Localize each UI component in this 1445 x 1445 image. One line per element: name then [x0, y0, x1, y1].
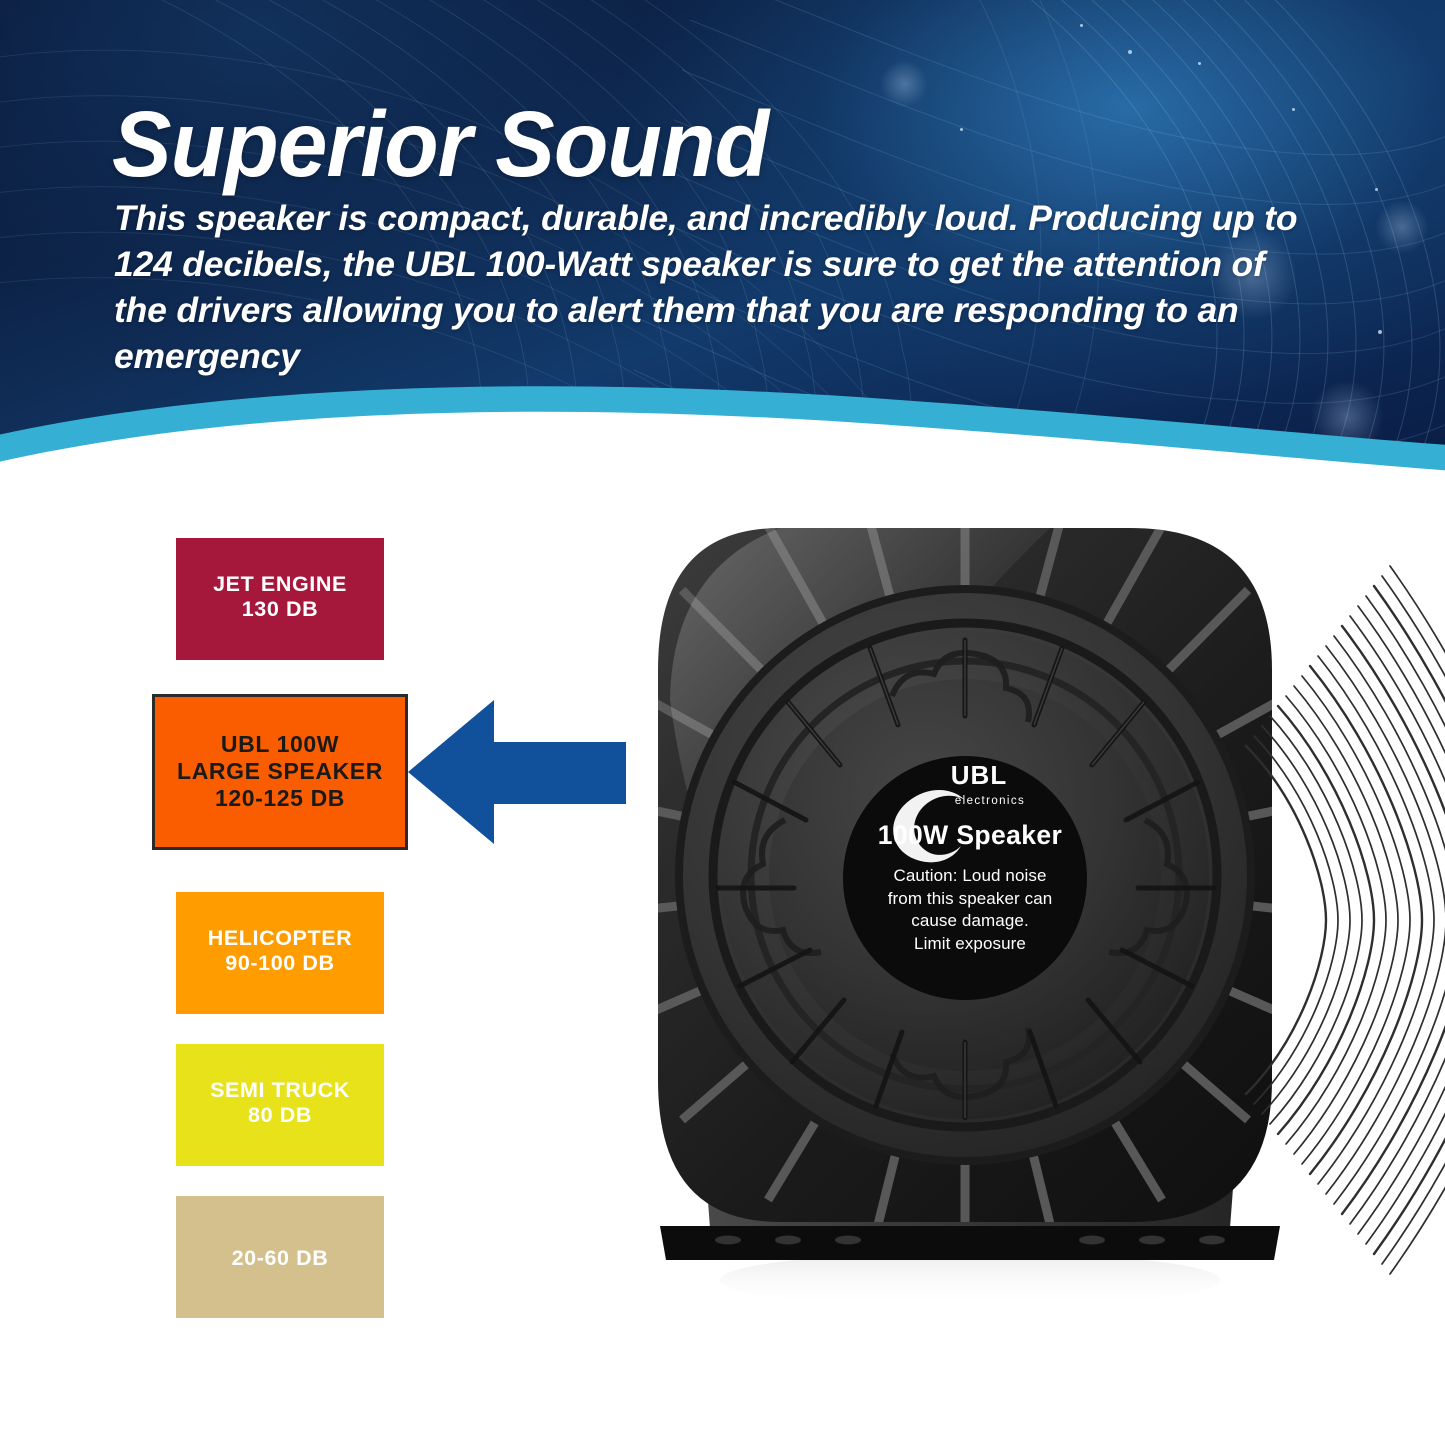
bokeh-dot: [1310, 380, 1384, 454]
speaker-model-label: 100W Speaker: [630, 820, 1310, 851]
arrow-shape: [408, 700, 626, 844]
sparkle-dot: [1128, 50, 1132, 54]
page-title: Superior Sound: [112, 98, 768, 191]
db-box-semi-truck[interactable]: SEMI TRUCK 80 DB: [176, 1044, 384, 1166]
speaker-product-image: UBL electronics 100W Speaker Caution: Lo…: [630, 520, 1310, 1310]
floor-reflection: [720, 1252, 1220, 1308]
db-box-jet-engine[interactable]: JET ENGINE 130 DB: [176, 538, 384, 660]
sparkle-dot: [1292, 108, 1295, 111]
db-box-ubl-100w-large-speaker[interactable]: UBL 100W LARGE SPEAKER 120-125 DB: [152, 694, 408, 850]
sparkle-dot: [960, 128, 963, 131]
infographic-canvas: Superior Sound This speaker is compact, …: [0, 0, 1445, 1445]
speaker-brand-block: UBL electronics: [630, 760, 1310, 808]
db-box-label: JET ENGINE 130 DB: [213, 572, 347, 622]
db-box-label: SEMI TRUCK 80 DB: [210, 1078, 350, 1128]
brand-name: UBL: [951, 760, 1007, 791]
bokeh-dot: [1375, 200, 1429, 254]
db-box-helicopter[interactable]: HELICOPTER 90-100 DB: [176, 892, 384, 1014]
page-subtitle: This speaker is compact, durable, and in…: [114, 196, 1319, 380]
soundwave-arcs: [1240, 560, 1445, 1280]
sparkle-dot: [1080, 24, 1083, 27]
db-box-quiet-range[interactable]: 20-60 DB: [176, 1196, 384, 1318]
speaker-caution-text: Caution: Loud noise from this speaker ca…: [630, 865, 1310, 955]
db-box-label: UBL 100W LARGE SPEAKER 120-125 DB: [177, 731, 383, 812]
db-box-label: 20-60 DB: [232, 1246, 329, 1271]
brand-subname: electronics: [955, 795, 1025, 807]
mounting-plate: [660, 1226, 1280, 1260]
sparkle-dot: [1198, 62, 1201, 65]
db-box-label: HELICOPTER 90-100 DB: [208, 926, 353, 976]
bokeh-dot: [880, 60, 928, 108]
sparkle-dot: [1375, 188, 1378, 191]
callout-arrow-icon: [408, 692, 626, 852]
sparkle-dot: [1378, 330, 1382, 334]
